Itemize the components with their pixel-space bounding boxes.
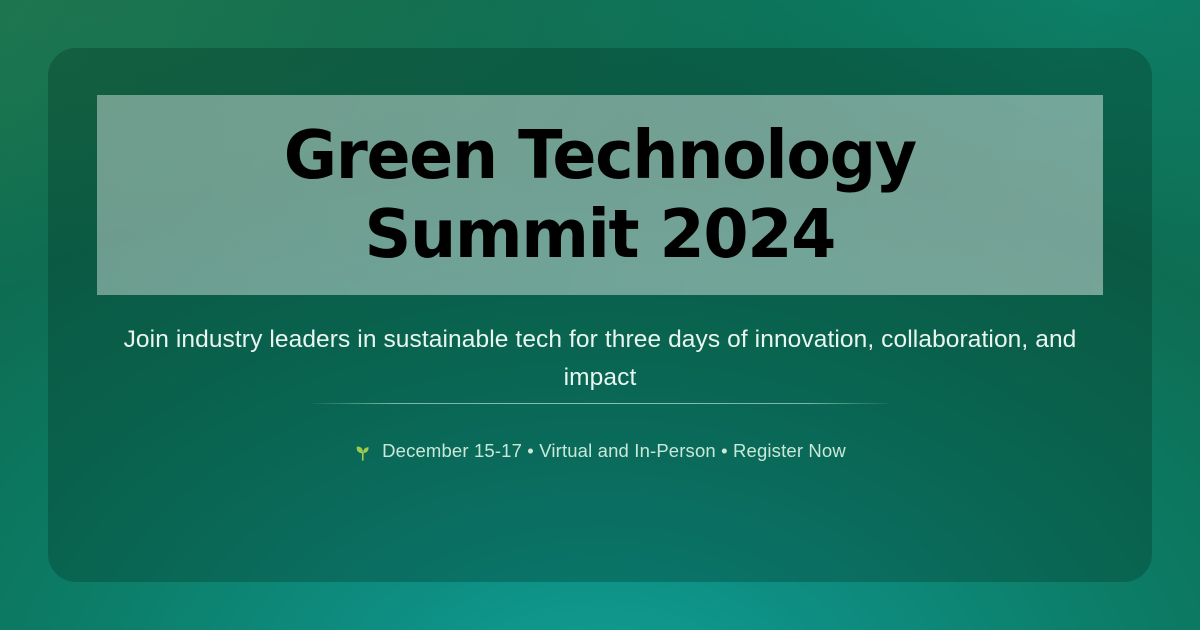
- banner-subtitle: Join industry leaders in sustainable tec…: [98, 321, 1102, 397]
- page-title: Green Technology Summit 2024: [267, 116, 934, 274]
- seedling-icon: [354, 443, 373, 462]
- event-meta-row: December 15-17 • Virtual and In-Person •…: [98, 438, 1102, 464]
- title-highlight-band: Green Technology Summit 2024: [97, 95, 1103, 295]
- event-banner-card: Green Technology Summit 2024 Join indust…: [48, 48, 1152, 582]
- section-divider: [313, 403, 888, 404]
- event-meta-text: December 15-17 • Virtual and In-Person •…: [382, 438, 846, 464]
